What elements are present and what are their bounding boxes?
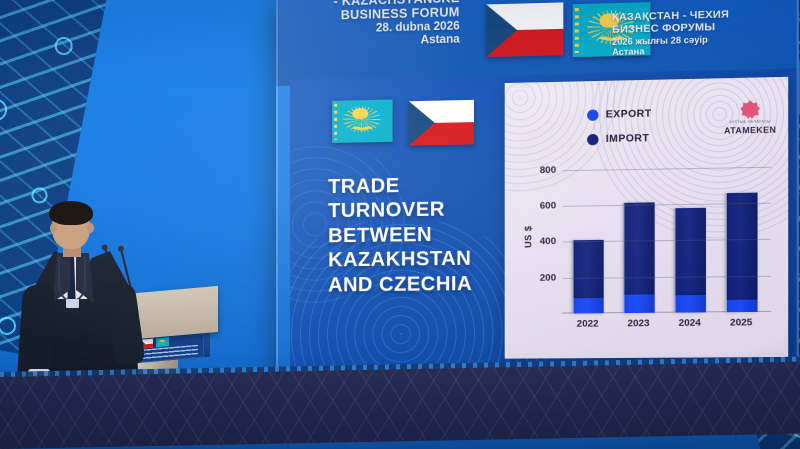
bar-segment-import-2024 — [674, 207, 705, 295]
x-tick-2025: 2025 — [730, 317, 752, 328]
y-tick-200: 200 — [540, 272, 556, 283]
legend-swatch-export — [587, 109, 598, 120]
speaker-arm-left — [17, 284, 56, 382]
atameken-name: ATAMEKEN — [719, 124, 782, 135]
legend-swatch-import — [587, 134, 598, 145]
bar-group-2022: 2022 — [572, 158, 603, 313]
bar-chart-plot: US $ 2022202320242025 200400600800 — [562, 155, 767, 313]
speaker-ear-right — [87, 223, 94, 233]
chart-card: EXPORTIMPORT ҰЛТТЫҚ ПАЛАТАСЫ ATAMEKEN US… — [505, 77, 789, 359]
y-axis-title: US $ — [523, 226, 533, 248]
x-tick-2022: 2022 — [577, 318, 599, 329]
bar-segment-export-2024 — [674, 295, 705, 312]
slide-czech-flag-icon — [409, 100, 474, 146]
stage-skirt — [0, 362, 800, 449]
y-tick-800: 800 — [540, 164, 556, 175]
conference-photo-scene: - KAZACHSTÁNSKÉ BUSINESS FORUM 28. dubna… — [0, 0, 800, 449]
atameken-logo: ҰЛТТЫҚ ПАЛАТАСЫ ATAMEKEN — [719, 100, 782, 136]
bar-segment-import-2025 — [725, 193, 757, 300]
czech-flag-icon — [486, 2, 563, 57]
bar-group-2023: 2023 — [623, 157, 654, 313]
bar-segment-import-2022 — [572, 239, 603, 298]
legend-label-import: IMPORT — [606, 133, 650, 145]
placard-kazakhstan-flag-icon — [156, 337, 169, 347]
header-czech-text: - KAZACHSTÁNSKÉ BUSINESS FORUM 28. dubna… — [280, 0, 460, 51]
chart-bars: 2022202320242025 — [562, 155, 767, 313]
x-tick-2024: 2024 — [679, 318, 701, 329]
speaker-badge — [66, 299, 79, 308]
legend-item-import: IMPORT — [587, 133, 652, 145]
speaker-ear-left — [50, 223, 57, 233]
led-presentation-screen: - KAZACHSTÁNSKÉ BUSINESS FORUM 28. dubna… — [276, 0, 799, 390]
bar-group-2025: 2025 — [725, 156, 757, 313]
presentation-slide: TRADE TURNOVER BETWEEN KAZAKHSTAN AND CZ… — [290, 68, 799, 370]
bar-segment-import-2023 — [623, 203, 654, 295]
speaker-lanyard — [58, 257, 86, 301]
x-tick-2023: 2023 — [628, 318, 650, 329]
y-tick-400: 400 — [540, 236, 556, 247]
bar-segment-export-2025 — [725, 299, 757, 312]
speaker-hair — [49, 201, 93, 225]
legend-item-export: EXPORT — [587, 108, 652, 121]
bar-group-2024: 2024 — [674, 157, 705, 313]
y-tick-600: 600 — [540, 200, 556, 211]
chart-legend: EXPORTIMPORT — [587, 108, 652, 158]
bar-segment-export-2023 — [623, 295, 654, 313]
atameken-emblem-icon — [740, 100, 760, 120]
bar-segment-export-2022 — [572, 298, 603, 314]
header-kazakh-text: ҚАЗАҚСТАН - ЧЕХИЯ БИЗНЕС ФОРУМЫ 2026 жыл… — [612, 7, 796, 59]
legend-label-export: EXPORT — [606, 108, 652, 120]
slide-kazakhstan-flag-icon — [332, 100, 393, 143]
